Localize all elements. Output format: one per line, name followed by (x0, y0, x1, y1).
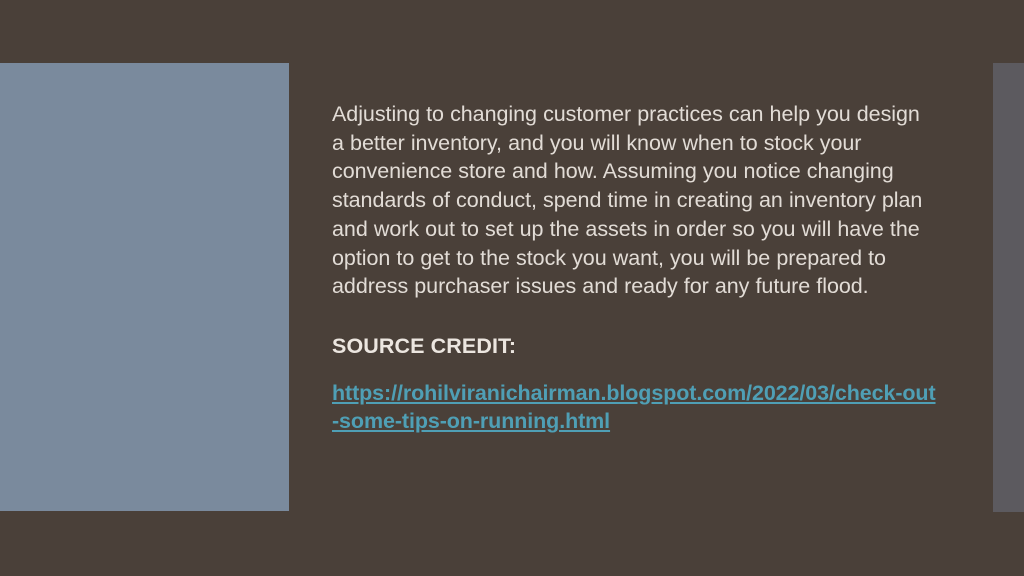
source-credit-link[interactable]: https://rohilviranichairman.blogspot.com… (332, 381, 936, 434)
slide-canvas: Adjusting to changing customer practices… (0, 0, 1024, 576)
left-image-placeholder (0, 63, 289, 511)
text-content-column: Adjusting to changing customer practices… (332, 100, 936, 436)
source-link-container: https://rohilviranichairman.blogspot.com… (332, 361, 936, 436)
source-credit-heading: SOURCE CREDIT: (332, 301, 936, 361)
body-paragraph: Adjusting to changing customer practices… (332, 100, 936, 301)
right-image-placeholder (993, 63, 1024, 512)
